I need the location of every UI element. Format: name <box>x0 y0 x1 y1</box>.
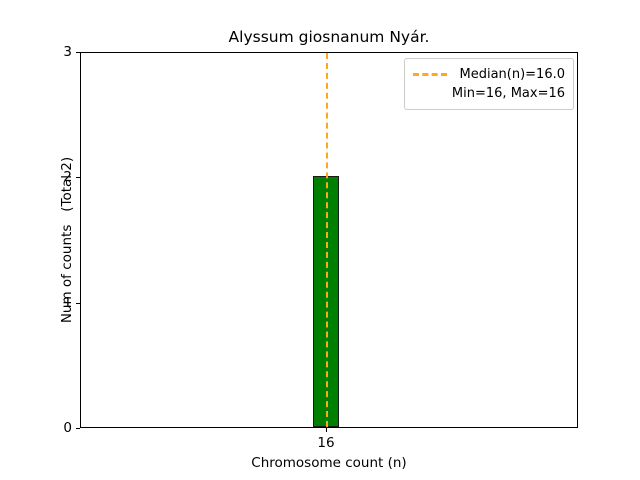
x-axis-label: Chromosome count (n) <box>80 455 578 471</box>
dashed-line-icon <box>413 73 447 76</box>
legend-entry-median: Median(n)=16.0 <box>413 65 565 84</box>
legend-label-median: Median(n)=16.0 <box>455 65 565 84</box>
median-line <box>326 53 328 427</box>
chart-figure: Alyssum giosnanum Nyár. 3 2 1 0 16 Chrom… <box>0 0 640 480</box>
legend-label-minmax: Min=16, Max=16 <box>413 84 565 103</box>
y-axis-label-wrapper: Num of counts (Total 2) <box>52 52 82 428</box>
chart-title: Alyssum giosnanum Nyár. <box>80 28 578 47</box>
x-tick-mark-16 <box>326 428 327 432</box>
y-tick-mark-0 <box>76 428 80 429</box>
legend: Median(n)=16.0 Min=16, Max=16 <box>404 58 574 110</box>
x-tick-label-16: 16 <box>317 435 334 451</box>
y-axis-label: Num of counts (Total 2) <box>52 52 82 428</box>
legend-entry-minmax: Min=16, Max=16 <box>413 84 565 103</box>
